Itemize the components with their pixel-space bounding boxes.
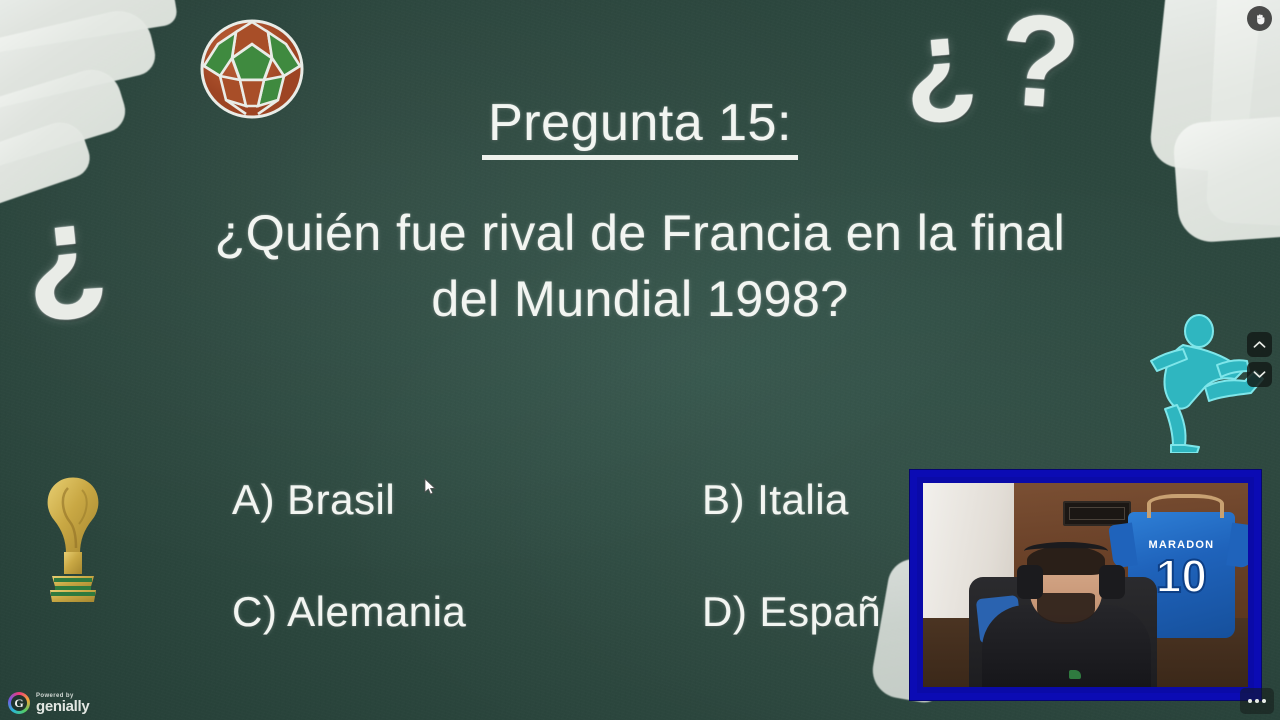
- next-slide-button[interactable]: [1247, 362, 1272, 387]
- question-text: ¿Quién fue rival de Francia en la final …: [60, 200, 1220, 332]
- question-line-1: ¿Quién fue rival de Francia en la final: [60, 200, 1220, 266]
- answer-option-a[interactable]: A) Brasil: [232, 476, 702, 524]
- chevron-up-icon: [1253, 340, 1266, 349]
- dot-3: [1262, 699, 1266, 703]
- hand-icon: [1253, 12, 1267, 26]
- mouse-cursor: [424, 478, 438, 496]
- page-title: Pregunta 15:: [482, 96, 798, 160]
- hand-tool-button[interactable]: [1247, 6, 1272, 31]
- headphone-cup-right: [1099, 565, 1125, 600]
- wall-plaque: [1063, 501, 1131, 525]
- headphones-band-icon: [1024, 542, 1109, 560]
- genially-text: Powered by genially: [36, 693, 89, 714]
- dot-2: [1255, 699, 1259, 703]
- webcam-overlay[interactable]: MARADON 10: [910, 470, 1261, 700]
- title-container: Pregunta 15:: [0, 96, 1280, 160]
- genially-name-label: genially: [36, 699, 89, 714]
- chevron-down-icon: [1253, 370, 1266, 379]
- genially-logo-icon: G: [8, 692, 30, 714]
- world-cup-trophy-icon: [30, 474, 116, 614]
- previous-slide-button[interactable]: [1247, 332, 1272, 357]
- slide-canvas: ¿ ¿ ? Pregunta 15: ¿Quién fue rival de F…: [0, 0, 1280, 720]
- headphone-cup-left: [1017, 565, 1043, 600]
- answer-options: A) Brasil B) Italia C) Alemania D) Españ: [232, 444, 1012, 668]
- webcam-video: MARADON 10: [923, 483, 1248, 687]
- person-beard: [1037, 593, 1096, 624]
- genially-badge[interactable]: G Powered by genially: [8, 692, 89, 714]
- shirt-logo-icon: [1069, 670, 1081, 679]
- answer-option-c[interactable]: C) Alemania: [232, 588, 702, 636]
- more-options-button[interactable]: [1240, 688, 1274, 714]
- genially-mark-letter: G: [14, 697, 23, 709]
- dot-1: [1248, 699, 1252, 703]
- question-line-2: del Mundial 1998?: [60, 266, 1220, 332]
